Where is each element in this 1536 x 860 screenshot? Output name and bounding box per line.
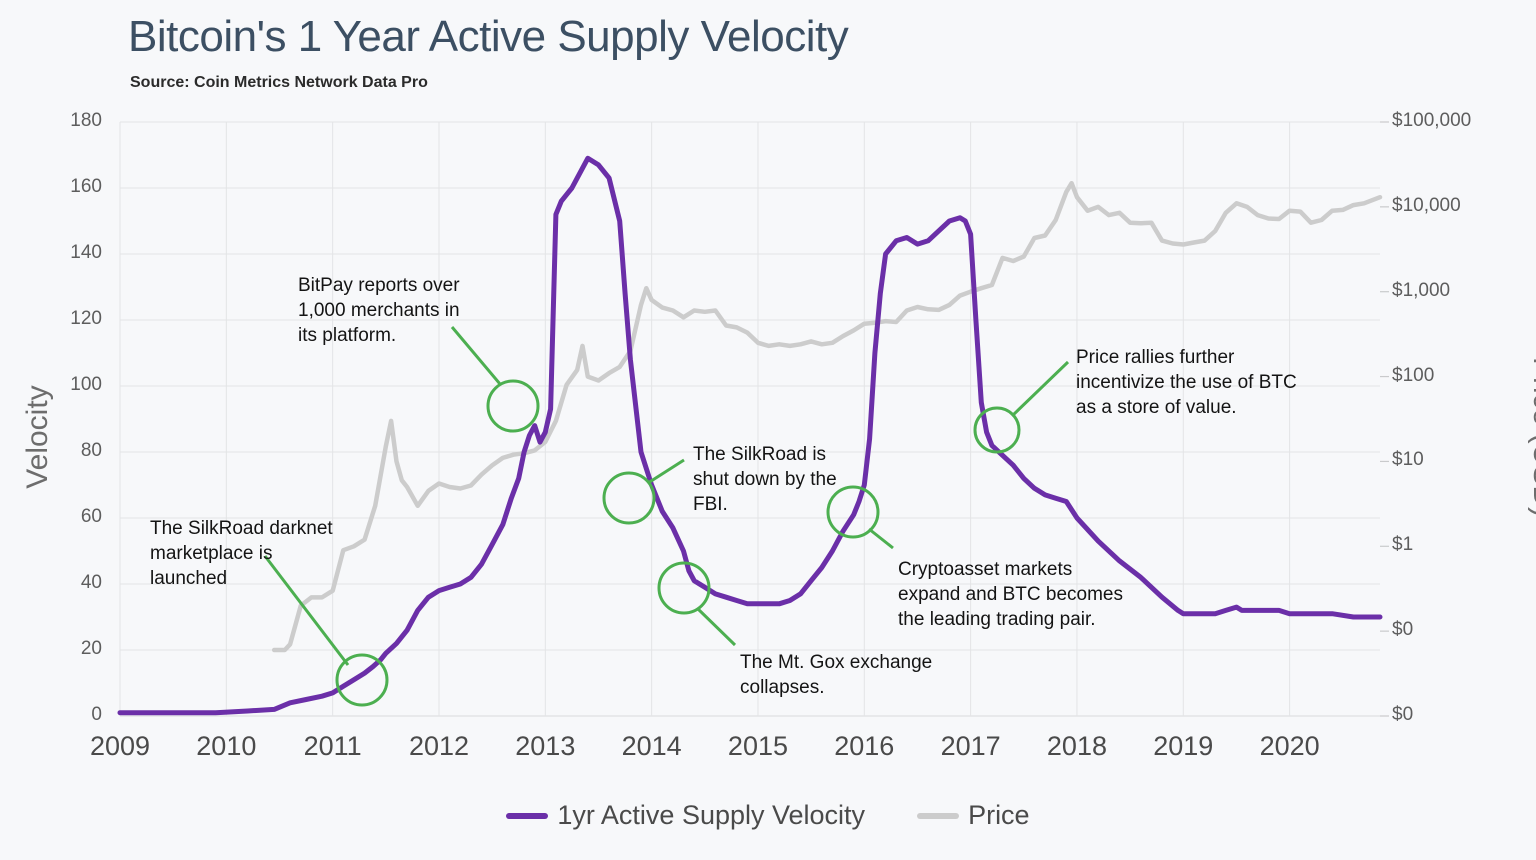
annotation-circle xyxy=(975,408,1019,452)
annotation-text-price-rallies: Price rallies further incentivize the us… xyxy=(1076,345,1297,420)
legend-item-price[interactable]: Price xyxy=(917,800,1030,831)
annotation-text-mtgox-collapse: The Mt. Gox exchange collapses. xyxy=(740,650,932,700)
y-tick-right: $100 xyxy=(1392,365,1512,387)
chart-root: Bitcoin's 1 Year Active Supply Velocity … xyxy=(0,0,1536,860)
y-tick-left: 180 xyxy=(32,110,102,132)
annotation-text-cryptoasset-markets: Cryptoasset markets expand and BTC becom… xyxy=(898,557,1123,632)
y-tick-left: 160 xyxy=(32,176,102,198)
y-tick-left: 80 xyxy=(32,440,102,462)
legend-swatch-price xyxy=(917,813,959,819)
y-tick-left: 100 xyxy=(32,374,102,396)
legend-swatch-velocity xyxy=(506,813,548,819)
x-tick: 2011 xyxy=(278,731,388,762)
annotation-text-silkroad-shutdown: The SilkRoad is shut down by the FBI. xyxy=(693,442,837,517)
y-tick-left: 20 xyxy=(32,638,102,660)
x-tick: 2012 xyxy=(384,731,494,762)
chart-legend: 1yr Active Supply Velocity Price xyxy=(0,800,1536,831)
y-tick-right: $1 xyxy=(1392,534,1512,556)
legend-label-velocity: 1yr Active Supply Velocity xyxy=(557,800,865,831)
y-tick-right: $10 xyxy=(1392,449,1512,471)
y-tick-right: $0 xyxy=(1392,619,1512,641)
annotation-leader-line xyxy=(1012,362,1068,416)
annotation-marker-bitpay-merchants xyxy=(452,327,538,431)
legend-item-velocity[interactable]: 1yr Active Supply Velocity xyxy=(506,800,865,831)
x-tick: 2018 xyxy=(1022,731,1132,762)
annotation-circle xyxy=(604,473,654,523)
x-tick: 2016 xyxy=(809,731,919,762)
annotation-text-bitpay-merchants: BitPay reports over 1,000 merchants in i… xyxy=(298,273,460,348)
x-tick: 2010 xyxy=(171,731,281,762)
x-tick: 2013 xyxy=(490,731,600,762)
x-tick: 2017 xyxy=(916,731,1026,762)
annotation-leader-line xyxy=(869,529,893,548)
annotation-leader-line xyxy=(648,460,684,483)
y-tick-right: $10,000 xyxy=(1392,195,1512,217)
legend-label-price: Price xyxy=(968,800,1030,831)
y-tick-right: $1,000 xyxy=(1392,280,1512,302)
annotation-leader-line xyxy=(697,608,735,645)
annotation-marker-mtgox-collapse xyxy=(659,563,735,645)
x-tick: 2009 xyxy=(65,731,175,762)
y-tick-left: 140 xyxy=(32,242,102,264)
annotation-circle xyxy=(488,381,538,431)
y-tick-left: 40 xyxy=(32,572,102,594)
x-tick: 2019 xyxy=(1128,731,1238,762)
y-tick-right: $100,000 xyxy=(1392,110,1512,132)
y-tick-left: 0 xyxy=(32,704,102,726)
y-tick-left: 120 xyxy=(32,308,102,330)
annotation-circle xyxy=(337,655,387,705)
y-tick-right: $0 xyxy=(1392,704,1512,726)
x-tick: 2020 xyxy=(1235,731,1345,762)
y-tick-left: 60 xyxy=(32,506,102,528)
x-tick: 2014 xyxy=(597,731,707,762)
annotation-text-silkroad-launched: The SilkRoad darknet marketplace is laun… xyxy=(150,516,333,591)
x-tick: 2015 xyxy=(703,731,813,762)
